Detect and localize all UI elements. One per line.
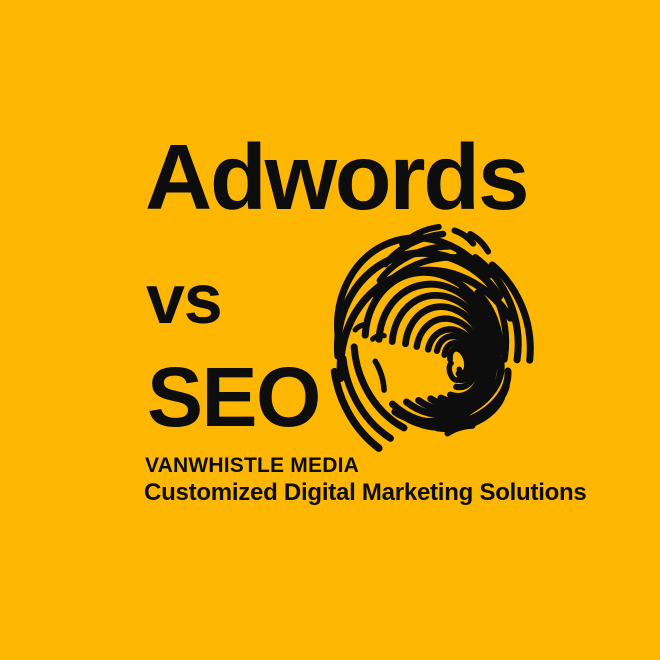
brand-tagline: Customized Digital Marketing Solutions — [144, 481, 587, 505]
brand-name: VANWHISTLE MEDIA — [145, 455, 359, 476]
headline-line-adwords: Adwords — [145, 131, 527, 224]
headline-line-vs: vs — [146, 264, 221, 334]
promo-graphic-canvas: Adwords vs SEO VANWHISTLE MEDIA Customiz… — [0, 0, 660, 660]
fingerprint-icon — [312, 214, 536, 458]
headline-line-seo: SEO — [147, 355, 320, 439]
